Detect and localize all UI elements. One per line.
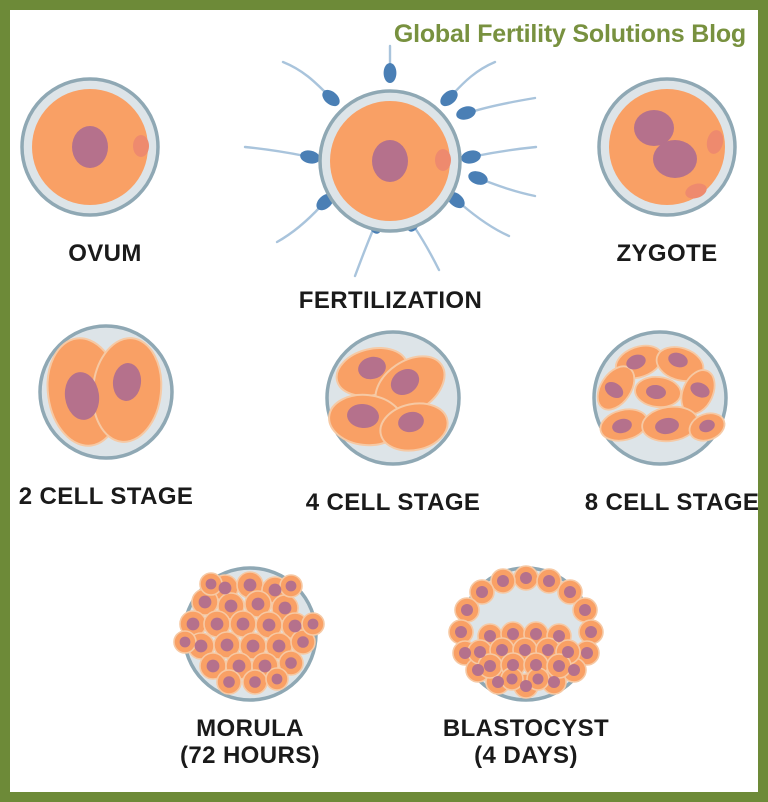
stage-sublabel-blastocyst: (4 DAYS) [428,743,624,770]
polar-body [435,149,451,171]
stage-two-cell: 2 CELL STAGE [8,320,204,511]
blastocyst-illustration [428,562,624,712]
embryo-development-poster: Global Fertility Solutions Blog OVUM [0,0,768,802]
nucleus [72,126,108,168]
blastocyst-cells [449,566,603,698]
blog-title: Global Fertility Solutions Blog [394,20,746,49]
stage-blastocyst: BLASTOCYST (4 DAYS) [428,562,624,770]
stage-morula: MORULA (72 HOURS) [155,562,345,770]
four-cell-illustration [298,326,488,486]
stage-label-ovum: OVUM [10,241,200,268]
pronucleus-female [653,140,697,178]
stage-four-cell: 4 CELL STAGE [298,326,488,517]
polar-body [133,135,149,157]
stage-label-morula: MORULA [155,716,345,743]
stage-sublabel-morula: (72 HOURS) [155,743,345,770]
stage-label-zygote: ZYGOTE [572,241,762,268]
stage-zygote: ZYGOTE [572,62,762,268]
stage-label-blastocyst: BLASTOCYST [428,716,624,743]
stage-eight-cell: 8 CELL STAGE [576,326,768,517]
stage-label-two-cell: 2 CELL STAGE [8,484,204,511]
pronucleus-male [634,110,674,146]
nucleus [372,140,408,182]
eight-cell-illustration [576,326,768,486]
stage-fertilization: FERTILIZATION [243,44,538,315]
morula-illustration [155,562,345,712]
stage-ovum: OVUM [10,62,200,268]
stage-label-four-cell: 4 CELL STAGE [298,490,488,517]
two-cell-illustration [8,320,204,480]
stage-label-fertilization: FERTILIZATION [243,288,538,315]
fertilization-illustration [243,44,538,284]
ovum-illustration [10,62,200,237]
stage-label-eight-cell: 8 CELL STAGE [576,490,768,517]
zygote-illustration [572,62,762,237]
